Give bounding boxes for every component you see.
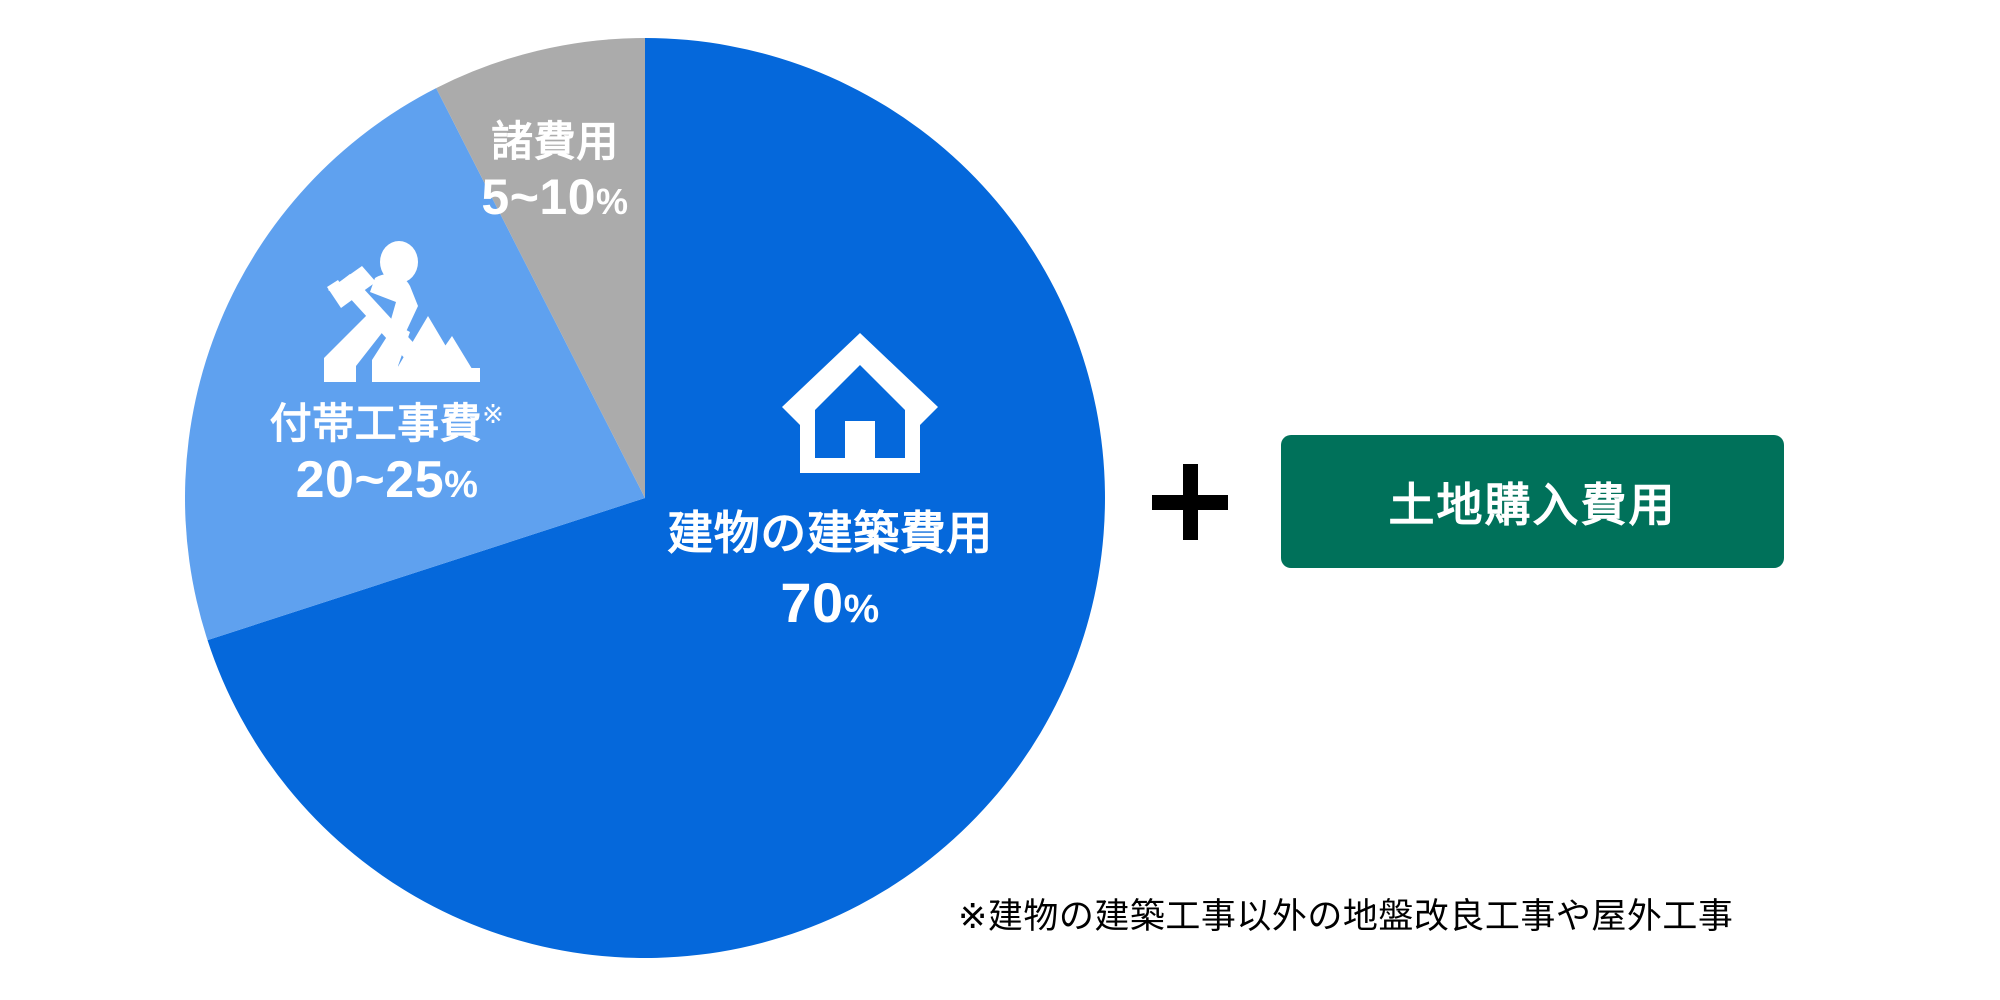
pie-label-title-text: 付帯工事費 xyxy=(270,400,483,447)
footnote-text: ※建物の建築工事以外の地盤改良工事や屋外工事 xyxy=(958,888,1733,939)
footnote-mark-icon: ※ xyxy=(482,399,504,429)
pie-label-title: 諸費用 xyxy=(440,118,670,165)
pie-label-value: 70% xyxy=(640,572,1020,635)
plus-icon-vertical-bar xyxy=(1183,464,1198,540)
pie-label-value-number: 5~10 xyxy=(481,169,596,225)
construction-worker-icon-svg xyxy=(300,240,480,390)
pie-label-building-construction-cost: 建物の建築費用 70% xyxy=(640,508,1020,634)
pie-label-value: 20~25% xyxy=(222,451,552,509)
house-icon xyxy=(782,333,938,473)
house-icon-svg xyxy=(782,333,938,473)
pie-label-value-unit: % xyxy=(444,464,478,506)
pie-label-incidental-construction-cost: 付帯工事費※ 20~25% xyxy=(222,400,552,509)
pie-label-title: 付帯工事費※ xyxy=(222,400,552,447)
land-purchase-cost-label: 土地購入費用 xyxy=(1389,469,1677,535)
construction-worker-icon xyxy=(300,240,480,390)
infographic-canvas: 建物の建築費用 70% 付帯工事費※ 20~25% 諸費用 5~10% 土地購入… xyxy=(0,0,2000,1000)
pie-label-value-unit: % xyxy=(844,587,880,631)
pie-label-title: 建物の建築費用 xyxy=(640,508,1020,560)
pie-label-value-number: 20~25 xyxy=(296,451,445,509)
pie-label-miscellaneous-cost: 諸費用 5~10% xyxy=(440,118,670,225)
pie-label-value-unit: % xyxy=(596,181,629,222)
pie-label-value: 5~10% xyxy=(440,169,670,225)
land-purchase-cost-button[interactable]: 土地購入費用 xyxy=(1281,435,1784,568)
pie-label-value-number: 70 xyxy=(780,571,843,634)
plus-icon xyxy=(1152,464,1228,540)
